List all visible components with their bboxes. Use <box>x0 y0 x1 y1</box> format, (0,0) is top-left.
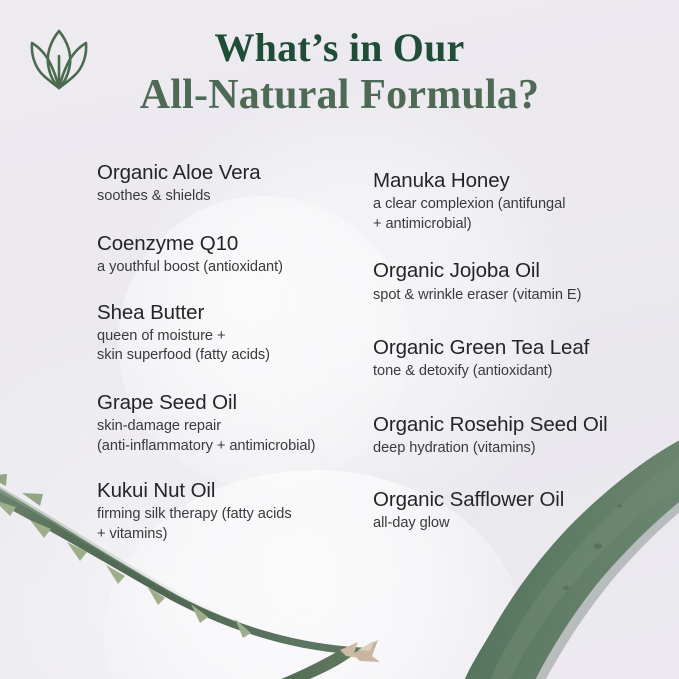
page-title-line-2: All-Natural Formula? <box>0 72 679 118</box>
ingredient-name: Shea Butter <box>97 300 362 325</box>
ingredient-description-line: (anti-inflammatory + antimicrobial) <box>97 437 362 456</box>
ingredient-name: Grape Seed Oil <box>97 390 362 415</box>
ingredient-description-line: + antimicrobial) <box>373 215 653 234</box>
ingredient-description-line: all-day glow <box>373 514 653 533</box>
ingredient-description-line: a clear complexion (antifungal <box>373 195 653 214</box>
ingredient-description-line: soothes & shields <box>97 187 362 206</box>
ingredient-description-line: firming silk therapy (fatty acids <box>97 505 362 524</box>
ingredient-item: Coenzyme Q10a youthful boost (antioxidan… <box>97 231 362 278</box>
ingredient-name: Coenzyme Q10 <box>97 231 362 256</box>
ingredient-description: spot & wrinkle eraser (vitamin E) <box>373 286 653 305</box>
ingredient-description: deep hydration (vitamins) <box>373 439 653 458</box>
ingredient-item: Grape Seed Oilskin-damage repair(anti-in… <box>97 390 362 456</box>
ingredient-description: a clear complexion (antifungal+ antimicr… <box>373 195 653 234</box>
ingredient-description-line: spot & wrinkle eraser (vitamin E) <box>373 286 653 305</box>
ingredient-name: Kukui Nut Oil <box>97 478 362 503</box>
ingredient-description-line: + vitamins) <box>97 525 362 544</box>
ingredient-item: Kukui Nut Oilfirming silk therapy (fatty… <box>97 478 362 544</box>
ingredient-item: Manuka Honeya clear complexion (antifung… <box>373 168 653 234</box>
ingredient-column-left: Organic Aloe Verasoothes & shieldsCoenzy… <box>97 160 362 544</box>
ingredient-name: Organic Jojoba Oil <box>373 258 653 283</box>
ingredient-item: Organic Aloe Verasoothes & shields <box>97 160 362 207</box>
ingredient-description: a youthful boost (antioxidant) <box>97 258 362 277</box>
ingredient-name: Organic Green Tea Leaf <box>373 335 653 360</box>
ingredient-description-line: skin-damage repair <box>97 417 362 436</box>
ingredient-item: Organic Jojoba Oilspot & wrinkle eraser … <box>373 258 653 305</box>
ingredient-item: Organic Safflower Oilall-day glow <box>373 487 653 534</box>
page-title: What’s in Our All-Natural Formula? <box>0 26 679 118</box>
ingredient-description: soothes & shields <box>97 187 362 206</box>
aloe-stem-fragment <box>258 642 360 679</box>
ingredient-description-line: skin superfood (fatty acids) <box>97 346 362 365</box>
ingredient-description: all-day glow <box>373 514 653 533</box>
ingredient-description: firming silk therapy (fatty acids+ vitam… <box>97 505 362 544</box>
ingredient-description-line: a youthful boost (antioxidant) <box>97 258 362 277</box>
page-title-line-1: What’s in Our <box>0 26 679 70</box>
ingredient-poster: What’s in Our All-Natural Formula? Organ… <box>0 0 679 679</box>
ingredient-description: queen of moisture +skin superfood (fatty… <box>97 327 362 366</box>
ingredient-description-line: queen of moisture + <box>97 327 362 346</box>
ingredient-item: Organic Rosehip Seed Oildeep hydration (… <box>373 412 653 459</box>
ingredient-description: skin-damage repair(anti-inflammatory + a… <box>97 417 362 456</box>
ingredient-columns: Organic Aloe Verasoothes & shieldsCoenzy… <box>0 160 679 580</box>
ingredient-description-line: tone & detoxify (antioxidant) <box>373 362 653 381</box>
ingredient-name: Organic Aloe Vera <box>97 160 362 185</box>
ingredient-name: Organic Safflower Oil <box>373 487 653 512</box>
ingredient-description: tone & detoxify (antioxidant) <box>373 362 653 381</box>
ingredient-name: Organic Rosehip Seed Oil <box>373 412 653 437</box>
ingredient-item: Organic Green Tea Leaftone & detoxify (a… <box>373 335 653 382</box>
ingredient-item: Shea Butterqueen of moisture +skin super… <box>97 300 362 366</box>
ingredient-description-line: deep hydration (vitamins) <box>373 439 653 458</box>
ingredient-name: Manuka Honey <box>373 168 653 193</box>
ingredient-column-right: Manuka Honeya clear complexion (antifung… <box>373 168 653 533</box>
